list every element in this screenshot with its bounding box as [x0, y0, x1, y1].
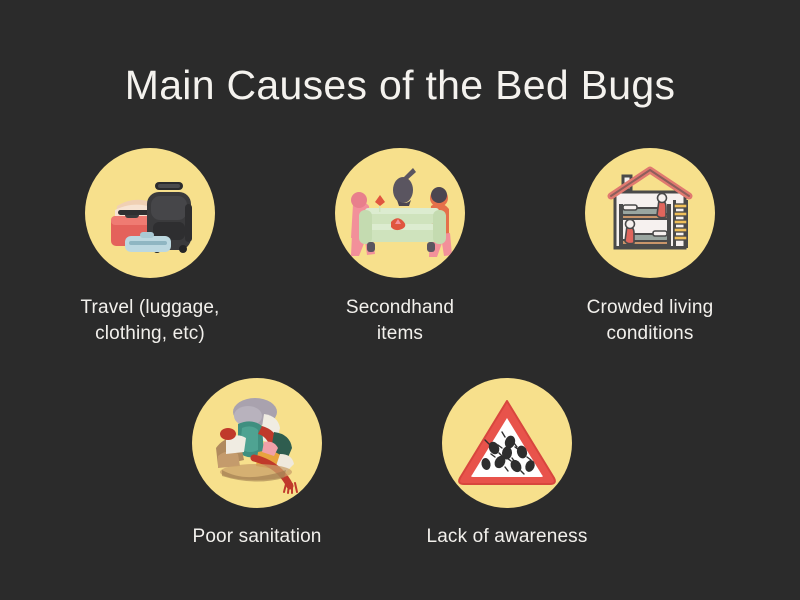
luggage-icon-circle: [85, 148, 215, 278]
bunk-bed-house-icon-circle: [585, 148, 715, 278]
cause-caption-crowded: Crowded living conditions: [587, 295, 714, 347]
bug-warning-sign-icon: [442, 378, 572, 508]
clothes-pile-icon-circle: [192, 378, 322, 508]
cause-caption-awareness: Lack of awareness: [427, 524, 588, 550]
cause-item-secondhand: Secondhand items: [285, 148, 515, 347]
clothes-pile-icon: [192, 378, 322, 508]
bunk-bed-house-icon: [585, 148, 715, 278]
cause-caption-secondhand: Secondhand items: [346, 295, 454, 347]
page-title: Main Causes of the Bed Bugs: [0, 62, 800, 109]
secondhand-sofa-icon: [335, 148, 465, 278]
cause-item-awareness: Lack of awareness: [392, 378, 622, 550]
slide-root: Main Causes of the Bed Bugs: [0, 0, 800, 600]
bug-warning-sign-icon-circle: [442, 378, 572, 508]
cause-item-crowded: Crowded living conditions: [535, 148, 765, 347]
cause-item-sanitation: Poor sanitation: [142, 378, 372, 550]
secondhand-sofa-icon-circle: [335, 148, 465, 278]
cause-caption-sanitation: Poor sanitation: [193, 524, 322, 550]
cause-item-travel: Travel (luggage, clothing, etc): [35, 148, 265, 347]
cause-caption-travel: Travel (luggage, clothing, etc): [81, 295, 220, 347]
luggage-icon: [85, 148, 215, 278]
